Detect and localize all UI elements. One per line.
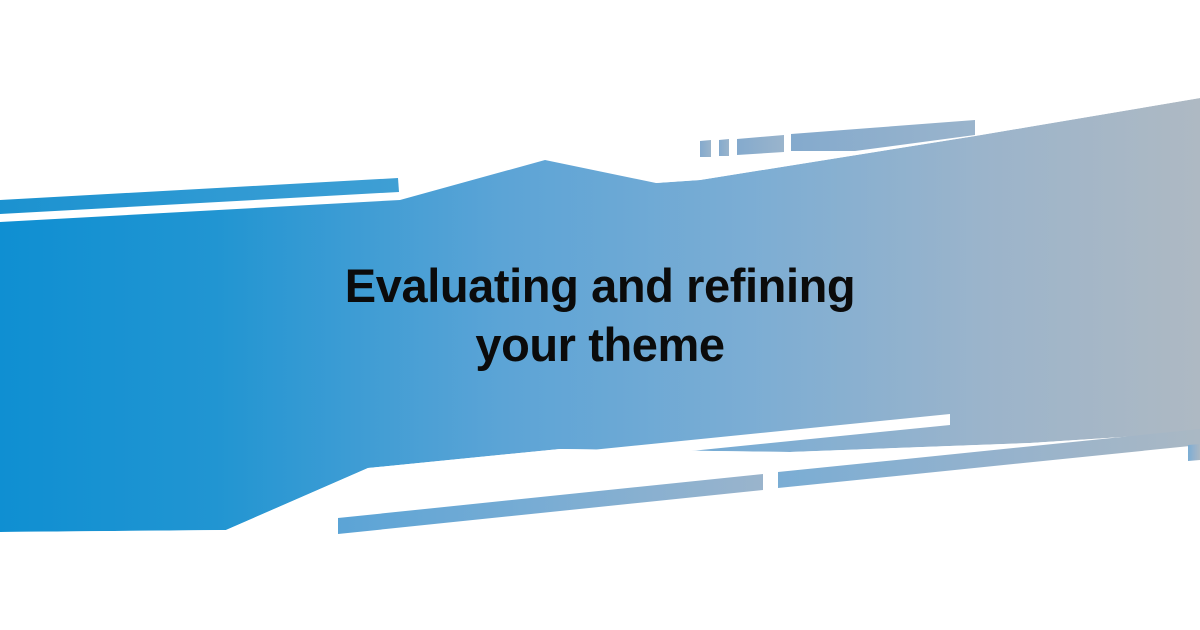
lower-accent-bar-stub	[1188, 444, 1200, 461]
decorative-artwork	[0, 0, 1200, 630]
banner-card: Evaluating and refining your theme	[0, 0, 1200, 630]
top-right-dash-square-2	[719, 139, 729, 156]
top-right-dash-square-1	[700, 140, 711, 157]
